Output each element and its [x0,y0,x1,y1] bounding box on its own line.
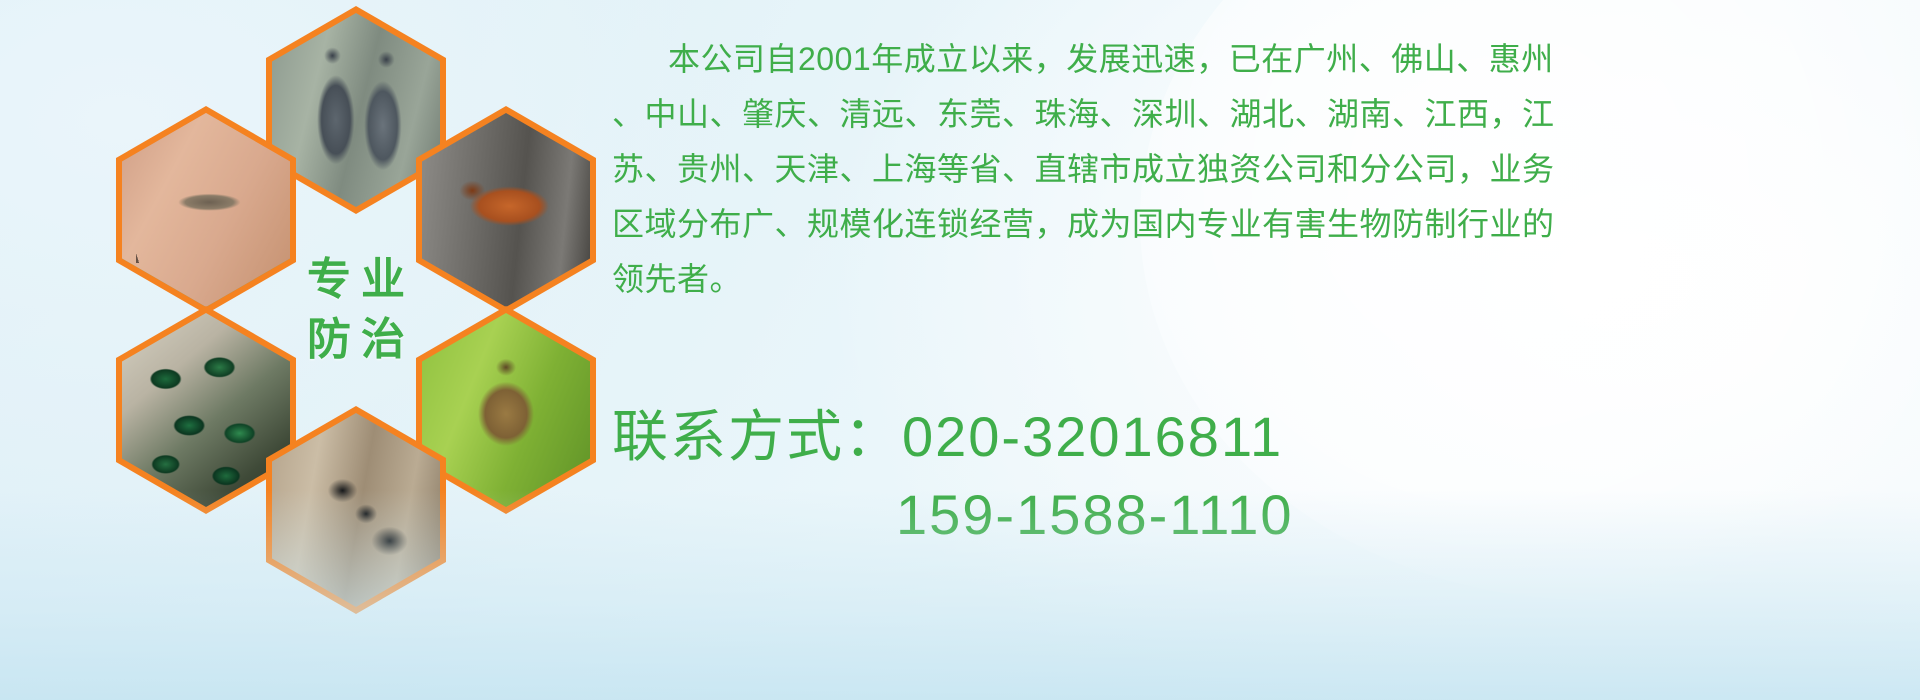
cockroach-photo [422,113,590,307]
intro-line-5: 领先者。 [612,252,1908,307]
flies-photo [122,313,290,507]
intro-line-1: 本公司自2001年成立以来，发展迅速，已在广州、佛山、惠州 [612,32,1908,87]
hex-label-line-2: 防治 [297,318,415,362]
contact-phone-secondary[interactable]: 159-1588-1110 [612,476,1912,554]
rats-photo [272,13,440,207]
intro-line-4: 区域分布广、规模化连锁经营，成为国内专业有害生物防制行业的 [612,197,1908,252]
stinkbug-photo [422,313,590,507]
ant-photo [272,413,440,607]
contact-block: 联系方式：020-32016811 159-1588-1110 [612,398,1912,554]
mosquito-photo [122,113,290,307]
hexagon-photo-cluster: 专业 防治 [86,6,606,566]
hex-center-label: 专业 防治 [266,206,446,414]
intro-paragraph-block: 本公司自2001年成立以来，发展迅速，已在广州、佛山、惠州 、中山、肇庆、清远、… [612,32,1912,307]
intro-line-3: 苏、贵州、天津、上海等省、直辖市成立独资公司和分公司，业务 [612,142,1908,197]
intro-line-2: 、中山、肇庆、清远、东莞、珠海、深圳、湖北、湖南、江西，江 [612,87,1908,142]
intro-paragraph: 本公司自2001年成立以来，发展迅速，已在广州、佛山、惠州 、中山、肇庆、清远、… [612,32,1908,307]
hex-label-line-1: 专业 [297,258,415,302]
promo-banner: 专业 防治 本公司自2001年成立以来，发展迅速，已在广州、佛山、惠州 、中山、… [0,0,1920,700]
contact-phone-primary[interactable]: 联系方式：020-32016811 [612,398,1912,476]
